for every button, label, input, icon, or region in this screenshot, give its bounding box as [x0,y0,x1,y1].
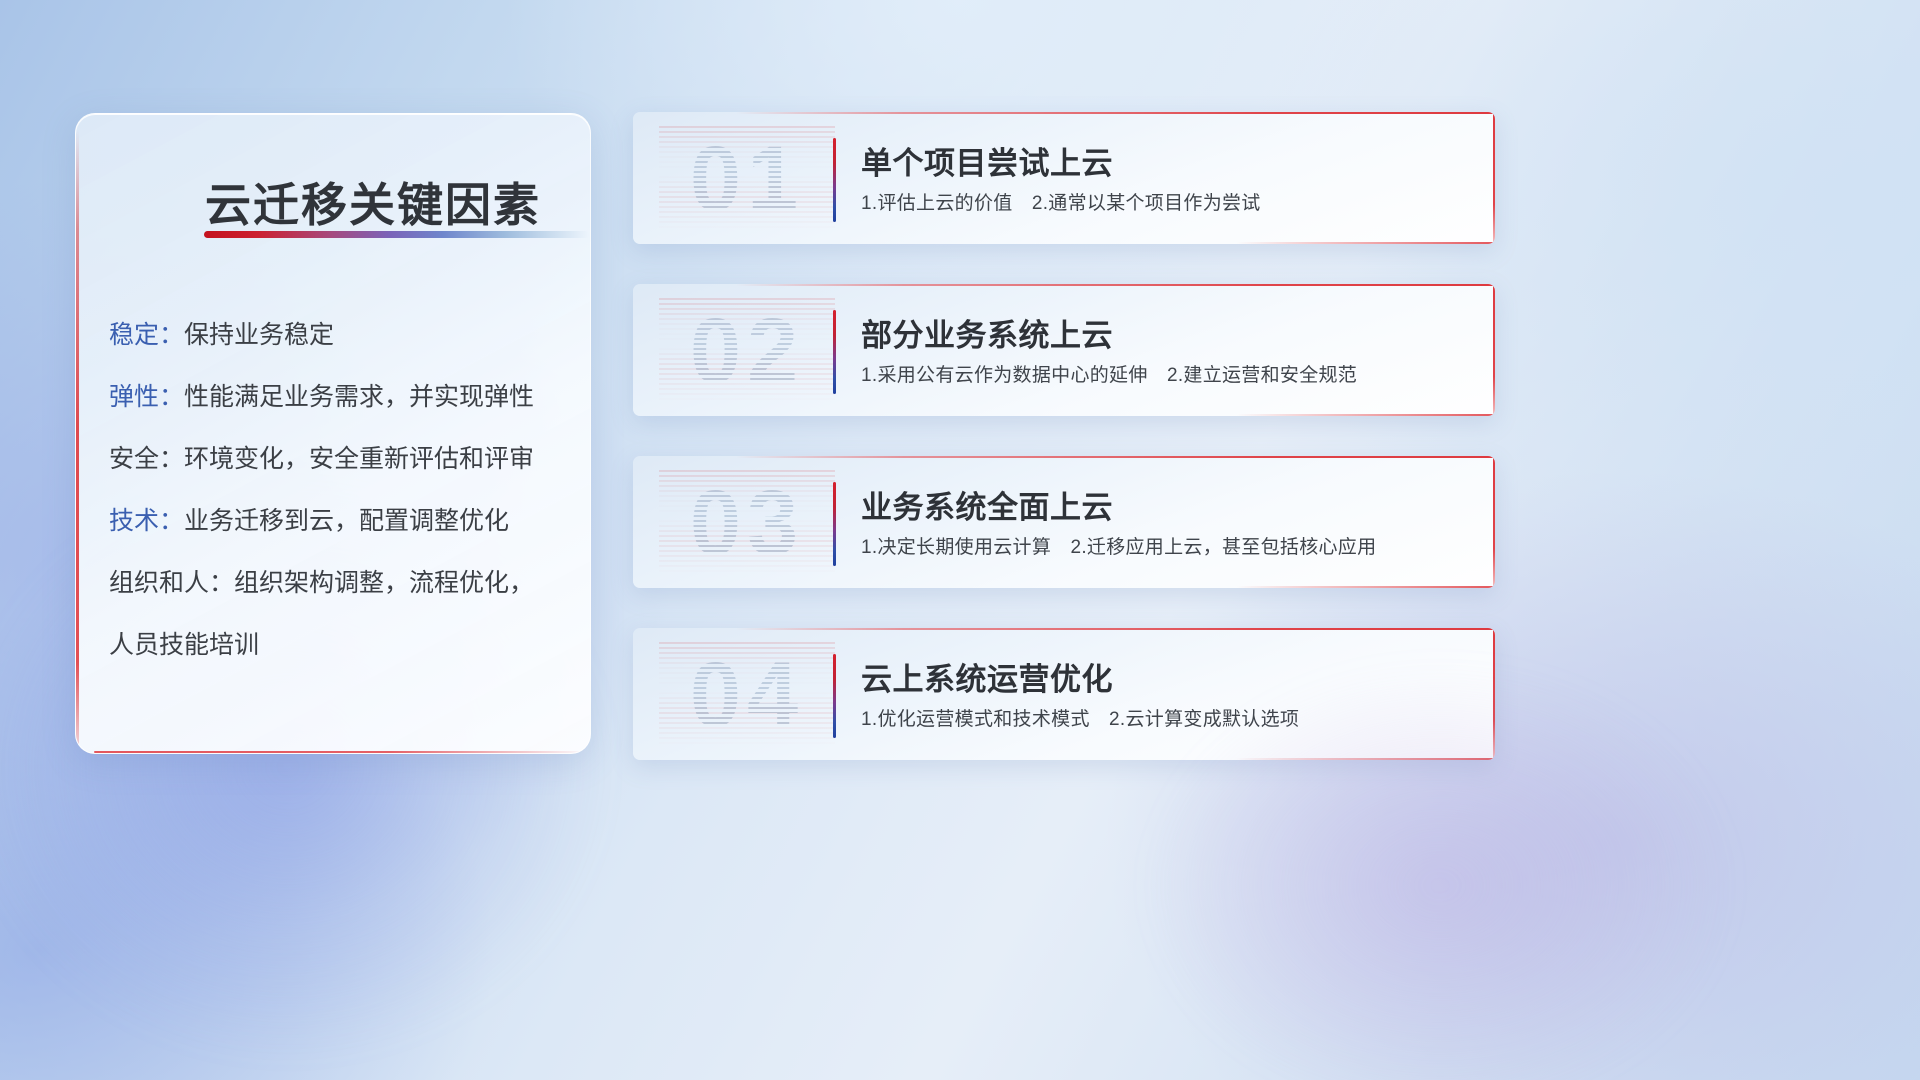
stage-card-04[interactable]: 04 云上系统运营优化 1.优化运营模式和技术模式 2.云计算变成默认选项 [633,628,1495,760]
panel-title: 云迁移关键因素 [205,169,541,235]
card-number-watermark: 04 [659,642,835,748]
card-top-accent [736,456,1495,458]
card-number-watermark: 02 [659,298,835,404]
factor-key: 技术： [109,507,184,535]
factor-text: 组织架构调整，流程优化， [234,569,534,597]
factor-text: 性能满足业务需求，并实现弹性 [184,383,534,411]
card-divider-bar [833,482,836,566]
card-subtitle: 1.优化运营模式和技术模式 2.云计算变成默认选项 [861,704,1299,731]
card-top-accent [736,112,1495,114]
factor-key: 组织和人： [109,569,234,597]
factor-text: 保持业务稳定 [184,321,334,349]
card-subtitle: 1.采用公有云作为数据中心的延伸 2.建立运营和安全规范 [861,360,1357,387]
card-heading: 云上系统运营优化 [861,654,1113,699]
title-underline-gradient [204,231,589,238]
card-right-accent [1493,112,1495,244]
card-subtitle: 1.评估上云的价值 2.通常以某个项目作为尝试 [861,188,1261,215]
list-item: 弹性：性能满足业务需求，并实现弹性 [109,366,566,428]
stage-card-01[interactable]: 01 单个项目尝试上云 1.评估上云的价值 2.通常以某个项目作为尝试 [633,112,1495,244]
card-right-accent [1493,284,1495,416]
card-heading: 业务系统全面上云 [861,482,1113,527]
card-top-accent [736,284,1495,286]
factor-text: 环境变化，安全重新评估和评审 [184,445,534,473]
stage-card-03[interactable]: 03 业务系统全面上云 1.决定长期使用云计算 2.迁移应用上云，甚至包括核心应… [633,456,1495,588]
card-bottom-accent [1236,586,1495,588]
card-heading: 部分业务系统上云 [861,310,1113,355]
card-bottom-accent [1236,242,1495,244]
factor-key: 弹性： [109,383,184,411]
card-subtitle: 1.决定长期使用云计算 2.迁移应用上云，甚至包括核心应用 [861,532,1376,559]
list-item: 技术：业务迁移到云，配置调整优化 [109,490,566,552]
list-item: 组织和人：组织架构调整，流程优化， [109,552,566,614]
card-number-text: 03 [690,471,804,576]
panel-bottom-accent-bar [94,751,588,754]
factor-text: 业务迁移到云，配置调整优化 [184,507,509,535]
card-number-text: 04 [690,643,804,748]
card-bottom-accent [1236,414,1495,416]
list-item: 安全：环境变化，安全重新评估和评审 [109,428,566,490]
card-right-accent [1493,456,1495,588]
list-item: 稳定：保持业务稳定 [109,304,566,366]
factor-text: 人员技能培训 [109,631,259,659]
card-heading: 单个项目尝试上云 [861,138,1113,183]
list-item: 人员技能培训 [109,614,566,676]
card-number-text: 02 [690,299,804,404]
slide-canvas: 云迁移关键因素 稳定：保持业务稳定 弹性：性能满足业务需求，并实现弹性 安全：环… [0,0,1920,1080]
panel-left-accent-bar [76,130,79,749]
key-factor-list: 稳定：保持业务稳定 弹性：性能满足业务需求，并实现弹性 安全：环境变化，安全重新… [109,304,566,676]
card-number-watermark: 03 [659,470,835,576]
card-right-accent [1493,628,1495,760]
card-divider-bar [833,138,836,222]
card-number-watermark: 01 [659,126,835,232]
card-divider-bar [833,654,836,738]
card-bottom-accent [1236,758,1495,760]
stage-card-list: 01 单个项目尝试上云 1.评估上云的价值 2.通常以某个项目作为尝试 02 部… [633,112,1495,800]
card-divider-bar [833,310,836,394]
key-factors-panel: 云迁移关键因素 稳定：保持业务稳定 弹性：性能满足业务需求，并实现弹性 安全：环… [75,113,591,754]
factor-key: 安全： [109,445,184,473]
card-top-accent [736,628,1495,630]
card-number-text: 01 [690,127,804,232]
factor-key: 稳定： [109,321,184,349]
stage-card-02[interactable]: 02 部分业务系统上云 1.采用公有云作为数据中心的延伸 2.建立运营和安全规范 [633,284,1495,416]
